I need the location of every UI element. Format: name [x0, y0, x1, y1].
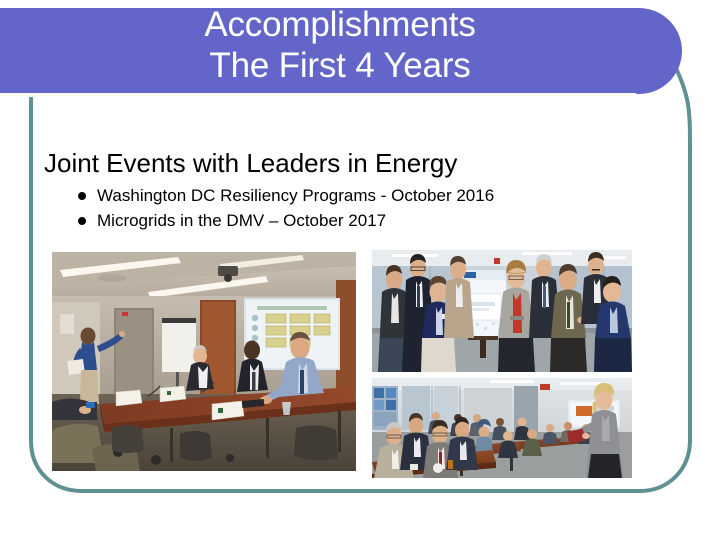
title-line-1: Accomplishments [0, 4, 680, 45]
list-item: Microgrids in the DMV – October 2017 [78, 209, 494, 232]
audience-presentation-photo [372, 378, 632, 478]
bullet-dot-icon [78, 217, 86, 225]
bullet-dot-icon [78, 192, 86, 200]
section-heading: Joint Events with Leaders in Energy [44, 148, 457, 179]
bullet-text: Microgrids in the DMV – October 2017 [97, 209, 386, 232]
bullet-text: Washington DC Resiliency Programs - Octo… [97, 184, 494, 207]
list-item: Washington DC Resiliency Programs - Octo… [78, 184, 494, 207]
group-portrait-photo [372, 250, 632, 372]
title-line-2: The First 4 Years [0, 45, 680, 86]
panel-discussion-photo [52, 252, 356, 471]
slide-canvas: Accomplishments The First 4 Years Joint … [0, 0, 720, 540]
slide-title: Accomplishments The First 4 Years [0, 4, 680, 86]
title-underline-rule [0, 93, 636, 97]
bullet-list: Washington DC Resiliency Programs - Octo… [78, 184, 494, 234]
